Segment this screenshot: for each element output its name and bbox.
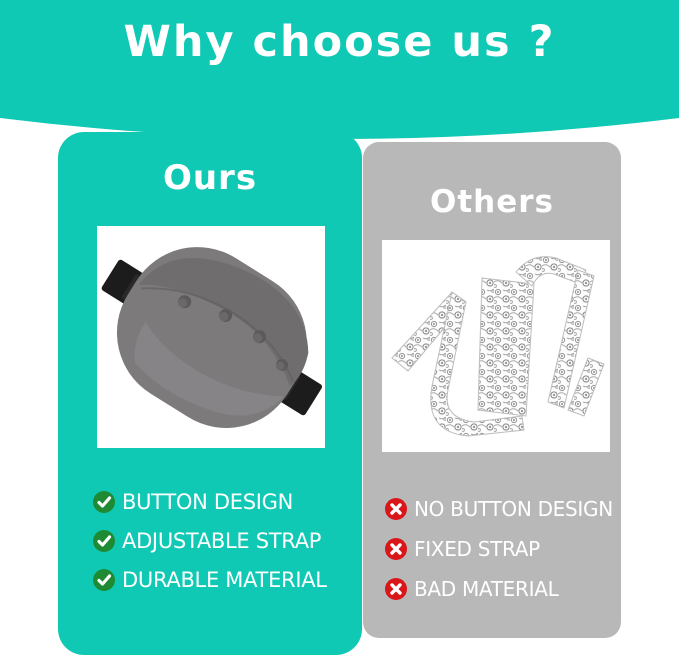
cross-circle-icon [385, 538, 407, 560]
feature-label: NO BUTTON DESIGN [414, 497, 613, 521]
list-item: BAD MATERIAL [385, 575, 613, 603]
feature-label: BUTTON DESIGN [122, 490, 293, 514]
list-item: DURABLE MATERIAL [93, 565, 327, 594]
feature-label: ADJUSTABLE STRAP [122, 529, 321, 553]
cross-circle-icon [385, 498, 407, 520]
others-product-illustration [382, 240, 610, 452]
list-item: ADJUSTABLE STRAP [93, 526, 327, 555]
cross-circle-icon [385, 578, 407, 600]
list-item: BUTTON DESIGN [93, 487, 327, 516]
check-circle-icon [93, 530, 115, 552]
feature-list-ours: BUTTON DESIGN ADJUSTABLE STRAP DURABLE M… [93, 487, 327, 604]
feature-label: FIXED STRAP [414, 537, 540, 561]
list-item: FIXED STRAP [385, 535, 613, 563]
product-photo-others [382, 240, 610, 452]
ours-product-illustration [97, 226, 325, 448]
feature-list-others: NO BUTTON DESIGN FIXED STRAP BAD MATERIA… [385, 495, 613, 615]
list-item: NO BUTTON DESIGN [385, 495, 613, 523]
check-circle-icon [93, 491, 115, 513]
product-photo-ours [97, 226, 325, 448]
feature-label: BAD MATERIAL [414, 577, 558, 601]
feature-label: DURABLE MATERIAL [122, 568, 327, 592]
card-title-ours: Ours [58, 158, 362, 198]
card-title-others: Others [363, 184, 621, 220]
check-circle-icon [93, 569, 115, 591]
